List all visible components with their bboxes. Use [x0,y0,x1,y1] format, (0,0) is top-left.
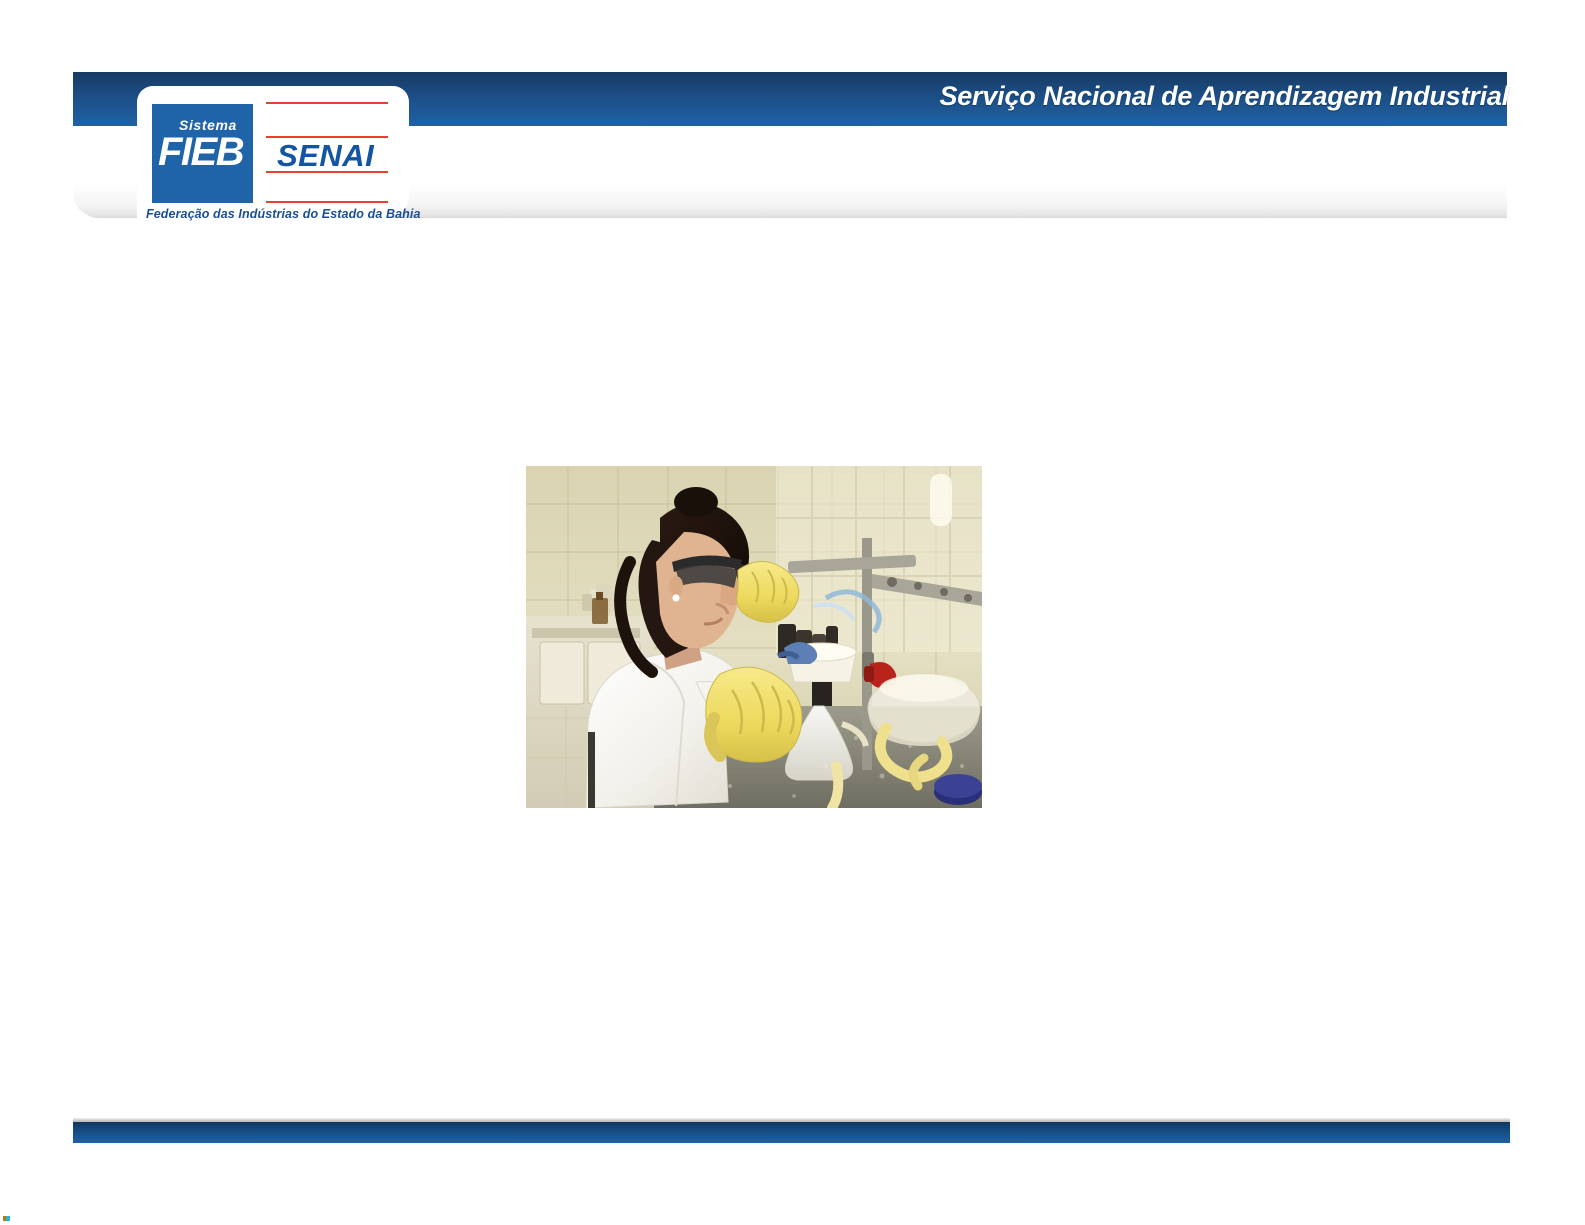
divider-rule-bottom [266,201,388,203]
photo-artwork [526,466,982,808]
divider-rule-top [266,102,388,104]
fieb-logo-mark: Sistema FIEB [152,104,253,203]
senai-logo-mark: SENAI [266,100,388,208]
laboratory-technician-photo [526,466,982,808]
logo-tagline: Federação das Indústrias do Estado da Ba… [146,207,421,221]
footer-band [73,1122,1510,1143]
page-title: Serviço Nacional de Aprendizagem Industr… [809,81,1509,112]
logo-senai-label: SENAI [277,140,374,171]
slide-canvas: Serviço Nacional de Aprendizagem Industr… [0,0,1585,1225]
corner-artifact [3,1216,10,1221]
